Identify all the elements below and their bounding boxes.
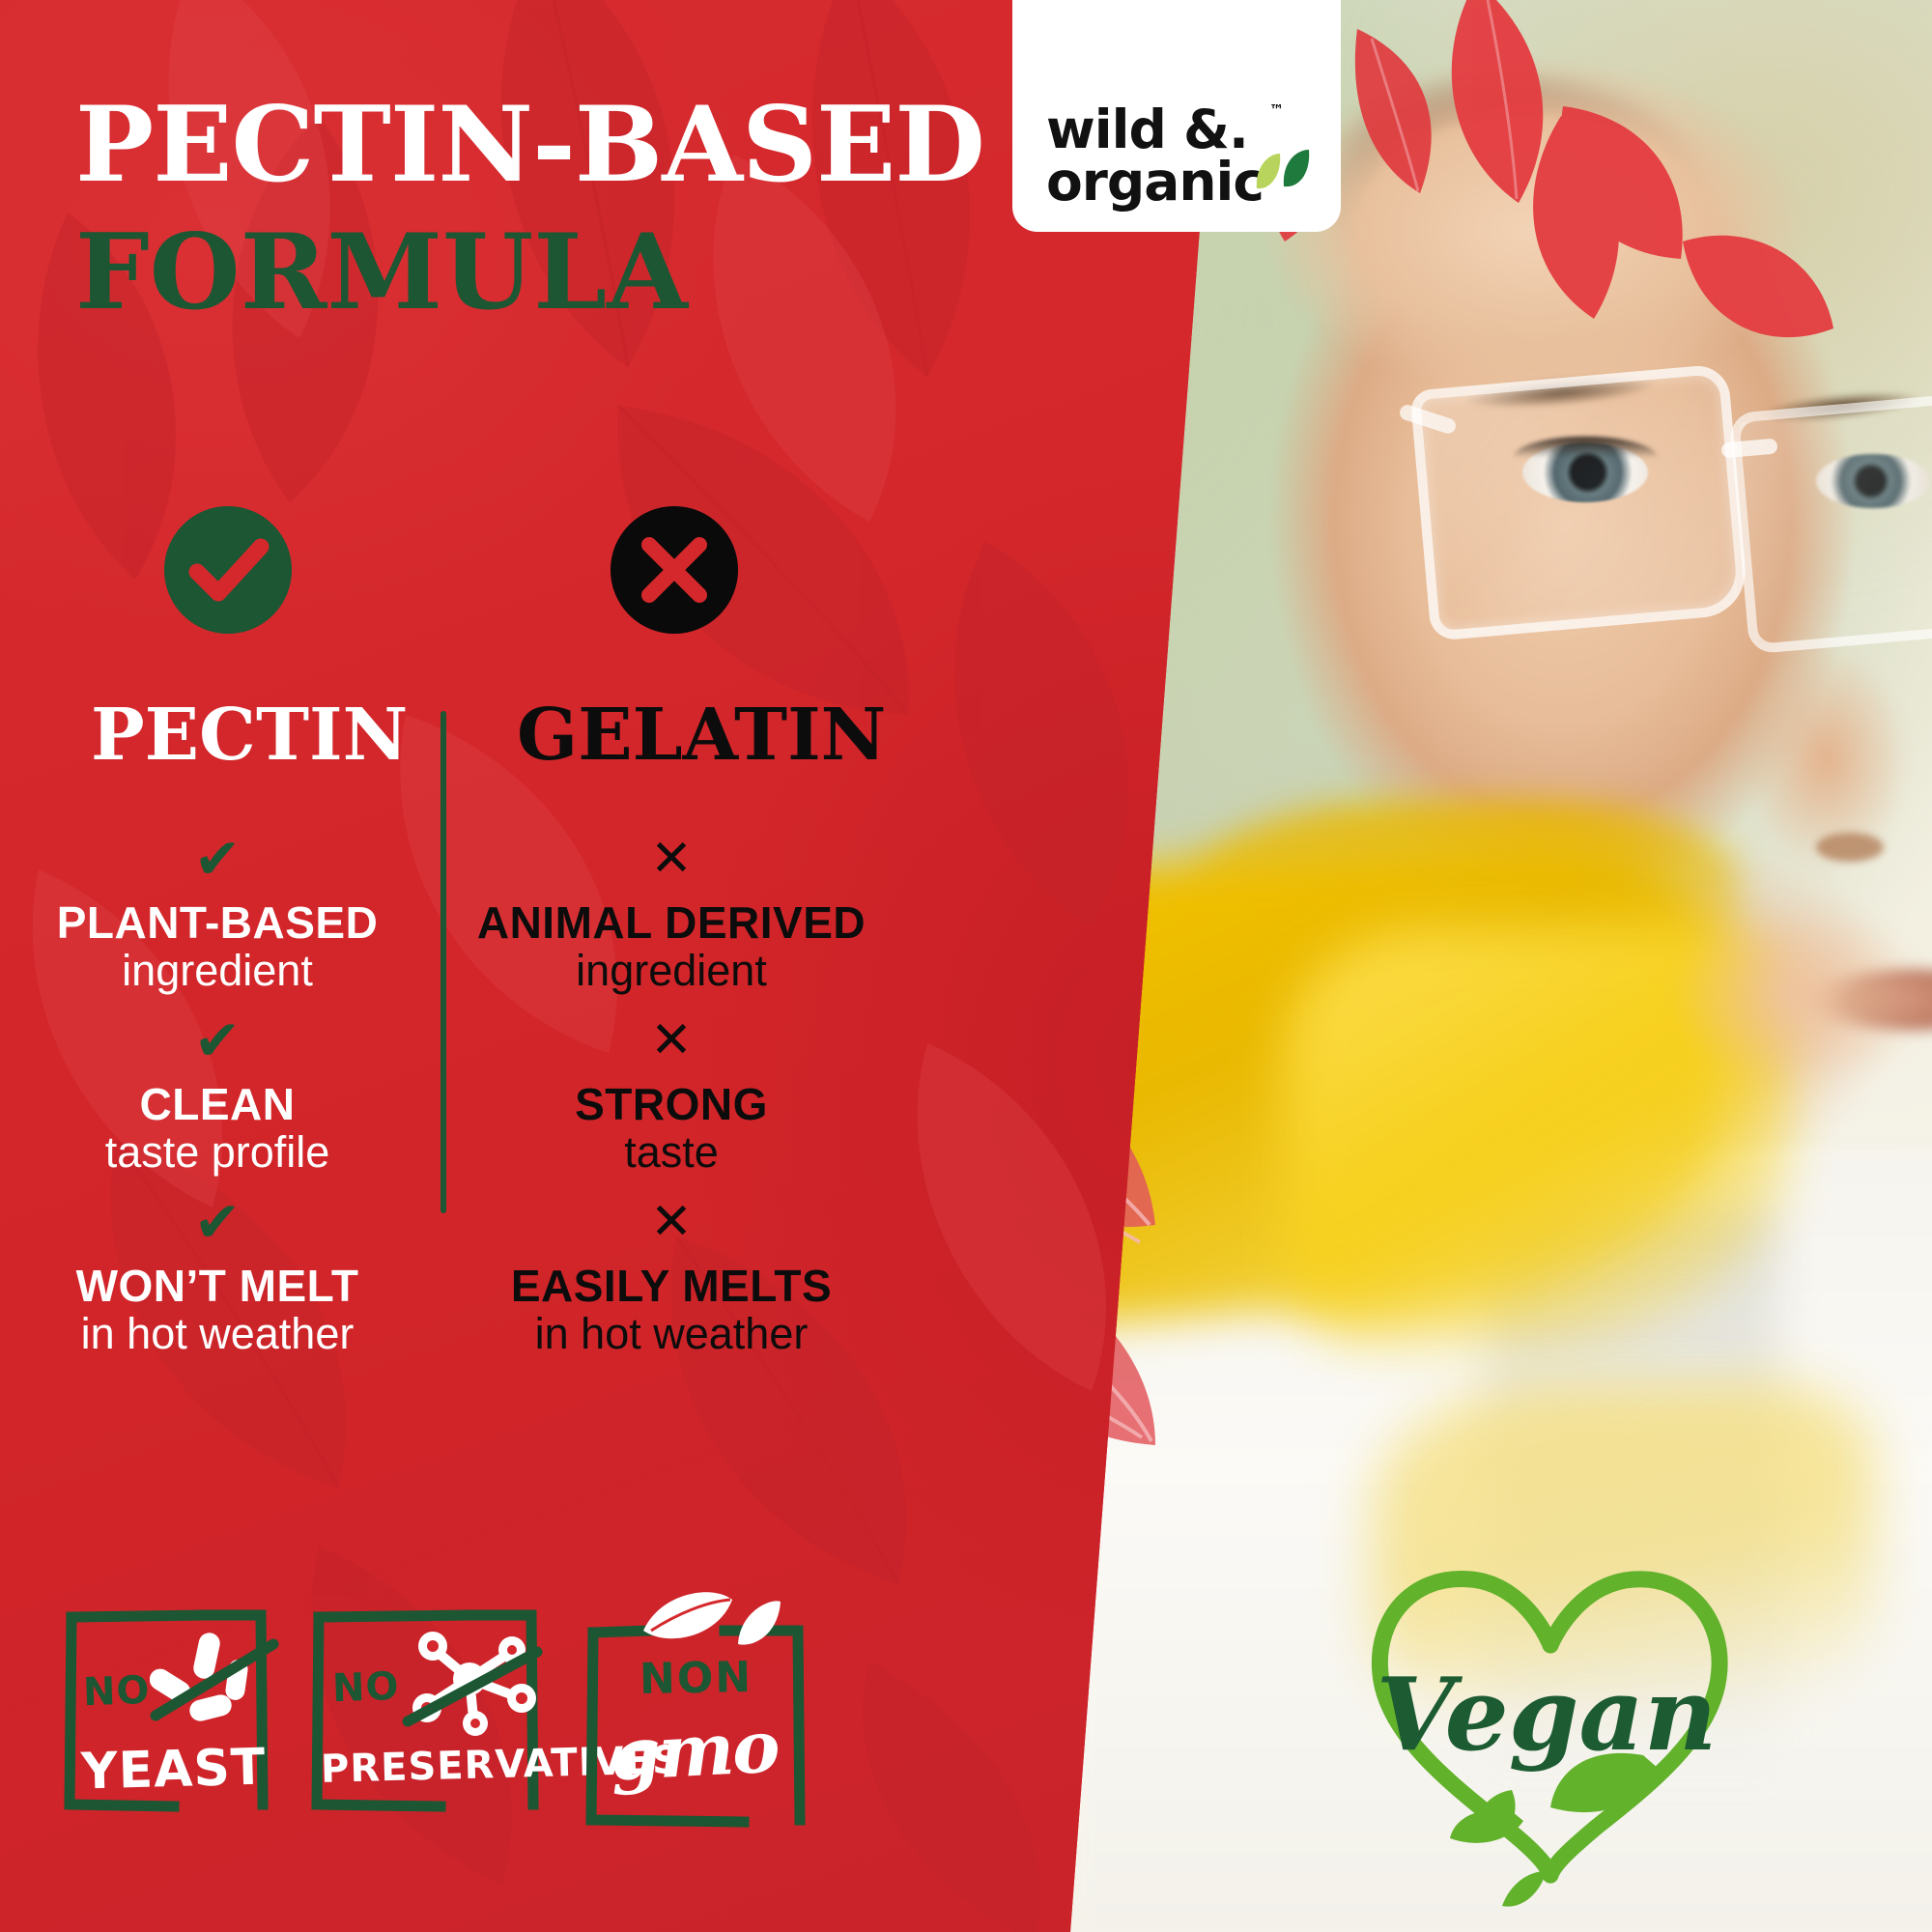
comparison-cell-left: ✔ WON’T MELT in hot weather: [10, 1194, 425, 1357]
badge-no-preservatives: NO PRESERVATIVES: [305, 1605, 545, 1818]
comparison-cell-right: ✕ STRONG taste: [464, 1012, 879, 1176]
column-header-pectin: PECTIN: [91, 699, 408, 771]
row-bold-text: EASILY MELTS: [464, 1264, 879, 1310]
comparison-headers: PECTIN GELATIN: [0, 699, 966, 806]
badge-no-yeast: NO YEAST: [58, 1605, 274, 1818]
row-regular-text: taste profile: [10, 1129, 425, 1176]
comparison-cell-right: ✕ EASILY MELTS in hot weather: [464, 1194, 879, 1357]
vegan-label: Vegan: [1376, 1655, 1717, 1774]
row-regular-text: ingredient: [464, 948, 879, 994]
row-bold-text: STRONG: [464, 1082, 879, 1128]
comparison-icon-row: [0, 506, 966, 651]
comparison-rows: ✔ PLANT-BASED ingredient ✕ ANIMAL DERIVE…: [0, 831, 966, 1376]
crossed-out-yeast-capsules-icon: [150, 1627, 285, 1733]
row-bold-text: PLANT-BASED: [10, 900, 425, 947]
red-content-panel: PECTIN-BASED FORMULA PECTIN GELATIN ✔: [0, 0, 1217, 1932]
infographic-canvas: PECTIN-BASED FORMULA PECTIN GELATIN ✔: [0, 0, 1932, 1932]
column-header-gelatin: GELATIN: [517, 699, 886, 771]
badge-word: YEAST: [80, 1739, 267, 1802]
row-bold-text: CLEAN: [10, 1082, 425, 1128]
trademark-symbol: ™: [1269, 101, 1284, 119]
check-mark-icon: ✔: [10, 1012, 425, 1068]
badge-prefix: NO: [331, 1664, 400, 1711]
check-mark-icon: ✔: [10, 1194, 425, 1250]
comparison-row: ✔ PLANT-BASED ingredient ✕ ANIMAL DERIVE…: [0, 831, 966, 1012]
comparison-row: ✔ WON’T MELT in hot weather ✕ EASILY MEL…: [0, 1194, 966, 1376]
logo-line-1: wild &.: [1046, 105, 1307, 155]
page-title: PECTIN-BASED FORMULA: [75, 93, 984, 325]
logo-leaves-icon: [1253, 150, 1311, 192]
comparison-cell-left: ✔ CLEAN taste profile: [10, 1012, 425, 1176]
row-bold-text: WON’T MELT: [10, 1264, 425, 1310]
row-bold-text: ANIMAL DERIVED: [464, 900, 879, 947]
x-mark-icon: ✕: [464, 831, 879, 887]
x-mark-icon: ✕: [464, 1194, 879, 1250]
row-regular-text: in hot weather: [464, 1311, 879, 1357]
badge-prefix: NO: [82, 1668, 151, 1715]
x-mark-icon: ✕: [464, 1012, 879, 1068]
row-regular-text: ingredient: [10, 948, 425, 994]
row-regular-text: in hot weather: [10, 1311, 425, 1357]
heart-leaf-vegan-icon: Vegan: [1357, 1531, 1744, 1918]
crossed-out-molecule-icon: [402, 1625, 547, 1736]
check-circle-icon: [164, 506, 292, 634]
comparison-row: ✔ CLEAN taste profile ✕ STRONG taste: [0, 1012, 966, 1194]
badge-non-gmo: NON gmo: [580, 1594, 811, 1806]
badge-prefix: NON: [639, 1653, 753, 1704]
x-circle-icon: [611, 506, 738, 634]
headline-line-2: FORMULA: [75, 220, 984, 325]
headline-line-1: PECTIN-BASED: [75, 93, 984, 197]
leaves-icon: [636, 1584, 781, 1654]
badge-word: gmo: [609, 1706, 781, 1798]
brand-logo[interactable]: ™ wild &. organic: [1012, 0, 1341, 232]
check-mark-icon: ✔: [10, 831, 425, 887]
certification-badges: NO YEAST NO: [58, 1577, 850, 1847]
row-regular-text: taste: [464, 1129, 879, 1176]
comparison-cell-left: ✔ PLANT-BASED ingredient: [10, 831, 425, 994]
vegan-badge: Vegan: [1357, 1531, 1744, 1918]
comparison-cell-right: ✕ ANIMAL DERIVED ingredient: [464, 831, 879, 994]
